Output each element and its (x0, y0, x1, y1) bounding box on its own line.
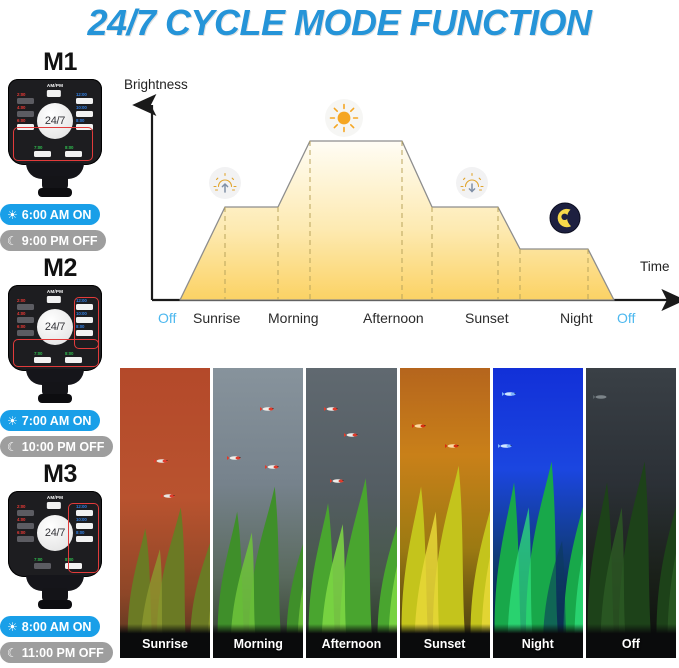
time-slot-key[interactable] (76, 124, 93, 130)
time-slot: 12:00 (76, 505, 93, 516)
page-title: 24/7 CYCLE MODE FUNCTION (0, 2, 679, 44)
time-slot: 10:00 (76, 518, 93, 529)
time-slot: 10:00 (76, 312, 93, 323)
module-m3-device: AM/PM 24/7 2:00 4:00 6:00 12:00 10:00 8:… (0, 491, 120, 611)
panel-label: Sunset (400, 624, 490, 658)
tick-label-sunrise: Sunrise (193, 310, 241, 326)
time-slot: 7:00 (34, 352, 51, 363)
fish-icon (445, 443, 462, 449)
module-m1-on-badge: ☀ 6:00 AM ON (0, 204, 100, 225)
time-slot-key[interactable] (76, 536, 93, 542)
time-slot-label: 8:00 (65, 146, 82, 150)
left-time-column: 2:00 4:00 6:00 (17, 299, 34, 336)
fish-icon (154, 458, 171, 464)
photo-panel-sunset: Sunset (400, 368, 490, 658)
tick-label-off-end: Off (617, 310, 636, 326)
y-axis-label: Brightness (124, 77, 188, 92)
sunset-icon (456, 167, 488, 199)
brightness-cycle-chart: Brightness Time (120, 75, 679, 335)
fish-icon (161, 493, 178, 499)
time-slot-key[interactable] (17, 124, 34, 130)
time-slot-key[interactable] (76, 317, 93, 323)
time-slot-key[interactable] (76, 111, 93, 117)
time-slot-key[interactable] (17, 536, 34, 542)
panel-label: Morning (213, 624, 303, 658)
fish-icon (502, 391, 519, 397)
panel-label: Sunrise (120, 624, 210, 658)
time-slot-label: 12:00 (76, 93, 93, 97)
tick-label-off-start: Off (158, 310, 177, 326)
sunrise-icon (209, 167, 241, 199)
module-m1-device: AM/PM 24/7 2:00 4:00 6:00 12:00 10:00 8:… (0, 79, 120, 199)
time-slot-label: 6:00 (17, 119, 34, 123)
time-slot: 2:00 (17, 93, 34, 104)
time-slot-label: 8:00 (76, 119, 93, 123)
time-slot-label: 4:00 (17, 312, 34, 316)
off-badge-label: 10:00 PM OFF (22, 440, 105, 454)
time-slot-key[interactable] (65, 151, 82, 157)
dial-24-7[interactable]: 24/7 (37, 515, 73, 551)
off-badge-label: 9:00 PM OFF (22, 234, 98, 248)
time-slot: 12:00 (76, 93, 93, 104)
ampm-label: AM/PM (47, 496, 63, 501)
time-slot-label: 10:00 (76, 312, 93, 316)
time-slot: 4:00 (17, 312, 34, 323)
time-slot-key[interactable] (76, 510, 93, 516)
panel-label: Afternoon (306, 624, 396, 658)
ampm-key[interactable] (47, 90, 61, 97)
time-slot-key[interactable] (34, 563, 51, 569)
time-slot-key[interactable] (17, 330, 34, 336)
time-slot-label: 4:00 (17, 518, 34, 522)
fish-icon (498, 443, 515, 449)
ampm-key[interactable] (47, 502, 61, 509)
time-slot-key[interactable] (17, 317, 34, 323)
on-badge-label: 8:00 AM ON (22, 620, 92, 634)
time-slot-key[interactable] (17, 510, 34, 516)
ampm-label: AM/PM (47, 290, 63, 295)
left-time-column: 2:00 4:00 6:00 (17, 93, 34, 130)
panel-label: Off (586, 624, 676, 658)
module-m2-on-badge: ☀ 7:00 AM ON (0, 410, 100, 431)
time-slot-key[interactable] (76, 523, 93, 529)
on-badge-label: 6:00 AM ON (22, 208, 92, 222)
device-plug-base (38, 394, 72, 403)
time-slot: 2:00 (17, 299, 34, 310)
time-slot-label: 8:00 (76, 325, 93, 329)
time-slot-key[interactable] (17, 304, 34, 310)
time-slot-key[interactable] (17, 523, 34, 529)
photo-panel-afternoon: Afternoon (306, 368, 396, 658)
panel-label: Night (493, 624, 583, 658)
module-m1-off-badge: ☾ 9:00 PM OFF (0, 230, 106, 251)
right-time-column: 12:00 10:00 8:00 (76, 93, 93, 130)
moon-icon (550, 203, 580, 233)
time-slot-key[interactable] (76, 304, 93, 310)
sun-icon (325, 99, 363, 137)
time-slot-key[interactable] (17, 111, 34, 117)
time-slot-label: 2:00 (17, 505, 34, 509)
bottom-time-row: 7:00 8:00 (34, 352, 82, 363)
time-slot: 8:00 (65, 146, 82, 157)
time-slot-label: 8:00 (65, 352, 82, 356)
module-m3: M3 AM/PM 24/7 2:00 4:00 6:00 12:00 (0, 462, 120, 658)
device-body: AM/PM 24/7 2:00 4:00 6:00 12:00 10:00 8:… (8, 79, 102, 165)
module-m2: M2 AM/PM 24/7 2:00 4:00 6:00 12:00 (0, 256, 120, 452)
fish-icon (344, 432, 361, 438)
photo-panel-night: Night (493, 368, 583, 658)
time-slot: 2:00 (17, 505, 34, 516)
right-time-column: 12:00 10:00 8:00 (76, 505, 93, 542)
bottom-time-row: 7:00 8:00 (34, 558, 82, 569)
bottom-time-row: 7:00 8:00 (34, 146, 82, 157)
left-time-column: 2:00 4:00 6:00 (17, 505, 34, 542)
time-slot: 4:00 (17, 106, 34, 117)
time-slot-label: 10:00 (76, 518, 93, 522)
time-slot: 6:00 (17, 119, 34, 130)
time-slot-label: 12:00 (76, 299, 93, 303)
photo-panel-morning: Morning (213, 368, 303, 658)
time-slot: 7:00 (34, 146, 51, 157)
off-badge-label: 11:00 PM OFF (22, 646, 104, 660)
module-list: M1 AM/PM 24/7 2:00 4:00 6:00 12:00 (0, 50, 120, 668)
ampm-button[interactable]: AM/PM (47, 496, 63, 509)
photo-panel-off: Off (586, 368, 676, 658)
sun-icon: ☀ (7, 209, 18, 221)
time-slot-label: 8:00 (65, 558, 82, 562)
photo-panel-sunrise: Sunrise (120, 368, 210, 658)
time-slot-key[interactable] (17, 98, 34, 104)
x-axis-label: Time (640, 259, 670, 274)
page-root: 24/7 CYCLE MODE FUNCTION M1 AM/PM 24/7 2… (0, 0, 679, 667)
module-m3-off-badge: ☾ 11:00 PM OFF (0, 642, 113, 663)
ampm-key[interactable] (47, 296, 61, 303)
device-plug-base (38, 188, 72, 197)
fish-icon (227, 455, 244, 461)
fish-icon (265, 464, 282, 470)
device-body: AM/PM 24/7 2:00 4:00 6:00 12:00 10:00 8:… (8, 285, 102, 371)
ampm-button[interactable]: AM/PM (47, 84, 63, 97)
time-slot: 6:00 (17, 531, 34, 542)
tick-label-afternoon: Afternoon (363, 310, 424, 326)
module-m1-title: M1 (0, 50, 120, 75)
time-slot-key[interactable] (34, 357, 51, 363)
sun-icon: ☀ (7, 621, 18, 633)
dial-24-7[interactable]: 24/7 (37, 103, 73, 139)
ampm-button[interactable]: AM/PM (47, 290, 63, 303)
time-slot-label: 4:00 (17, 106, 34, 110)
module-m1: M1 AM/PM 24/7 2:00 4:00 6:00 12:00 (0, 50, 120, 246)
fish-icon (593, 394, 610, 400)
time-slot: 8:00 (76, 119, 93, 130)
time-slot: 7:00 (34, 558, 51, 569)
time-slot-label: 7:00 (34, 558, 51, 562)
moon-icon: ☾ (7, 647, 18, 659)
brightness-area (180, 141, 614, 300)
time-slot-key[interactable] (76, 330, 93, 336)
dial-24-7[interactable]: 24/7 (37, 309, 73, 345)
time-slot: 4:00 (17, 518, 34, 529)
time-slot-label: 6:00 (17, 531, 34, 535)
time-slot-label: 2:00 (17, 299, 34, 303)
sun-icon: ☀ (7, 415, 18, 427)
tick-label-sunset: Sunset (465, 310, 509, 326)
module-m2-device: AM/PM 24/7 2:00 4:00 6:00 12:00 10:00 8:… (0, 285, 120, 405)
device-body: AM/PM 24/7 2:00 4:00 6:00 12:00 10:00 8:… (8, 491, 102, 577)
time-slot-label: 6:00 (17, 325, 34, 329)
time-slot-key[interactable] (76, 98, 93, 104)
time-slot: 8:00 (65, 352, 82, 363)
time-slot-label: 2:00 (17, 93, 34, 97)
chart-svg: Brightness Time (120, 75, 679, 335)
moon-icon: ☾ (7, 441, 18, 453)
time-slot: 8:00 (65, 558, 82, 569)
time-slot: 8:00 (76, 531, 93, 542)
time-slot-label: 10:00 (76, 106, 93, 110)
time-slot-key[interactable] (65, 357, 82, 363)
module-m3-title: M3 (0, 462, 120, 487)
fish-icon (324, 406, 341, 412)
fish-icon (412, 423, 429, 429)
on-badge-label: 7:00 AM ON (22, 414, 92, 428)
tick-label-night: Night (560, 310, 593, 326)
time-slot: 12:00 (76, 299, 93, 310)
fish-icon (330, 478, 347, 484)
time-slot: 8:00 (76, 325, 93, 336)
module-m2-off-badge: ☾ 10:00 PM OFF (0, 436, 113, 457)
time-slot-label: 7:00 (34, 352, 51, 356)
fish-icon (260, 406, 277, 412)
time-slot-label: 8:00 (76, 531, 93, 535)
module-m3-on-badge: ☀ 8:00 AM ON (0, 616, 100, 637)
tick-label-morning: Morning (268, 310, 319, 326)
moon-icon: ☾ (7, 235, 18, 247)
right-time-column: 12:00 10:00 8:00 (76, 299, 93, 336)
time-slot-key[interactable] (65, 563, 82, 569)
photo-strip: Sunrise (120, 368, 676, 658)
time-slot-key[interactable] (34, 151, 51, 157)
time-slot: 10:00 (76, 106, 93, 117)
time-slot: 6:00 (17, 325, 34, 336)
ampm-label: AM/PM (47, 84, 63, 89)
module-m2-title: M2 (0, 256, 120, 281)
time-slot-label: 7:00 (34, 146, 51, 150)
device-plug-base (38, 600, 72, 609)
time-slot-label: 12:00 (76, 505, 93, 509)
